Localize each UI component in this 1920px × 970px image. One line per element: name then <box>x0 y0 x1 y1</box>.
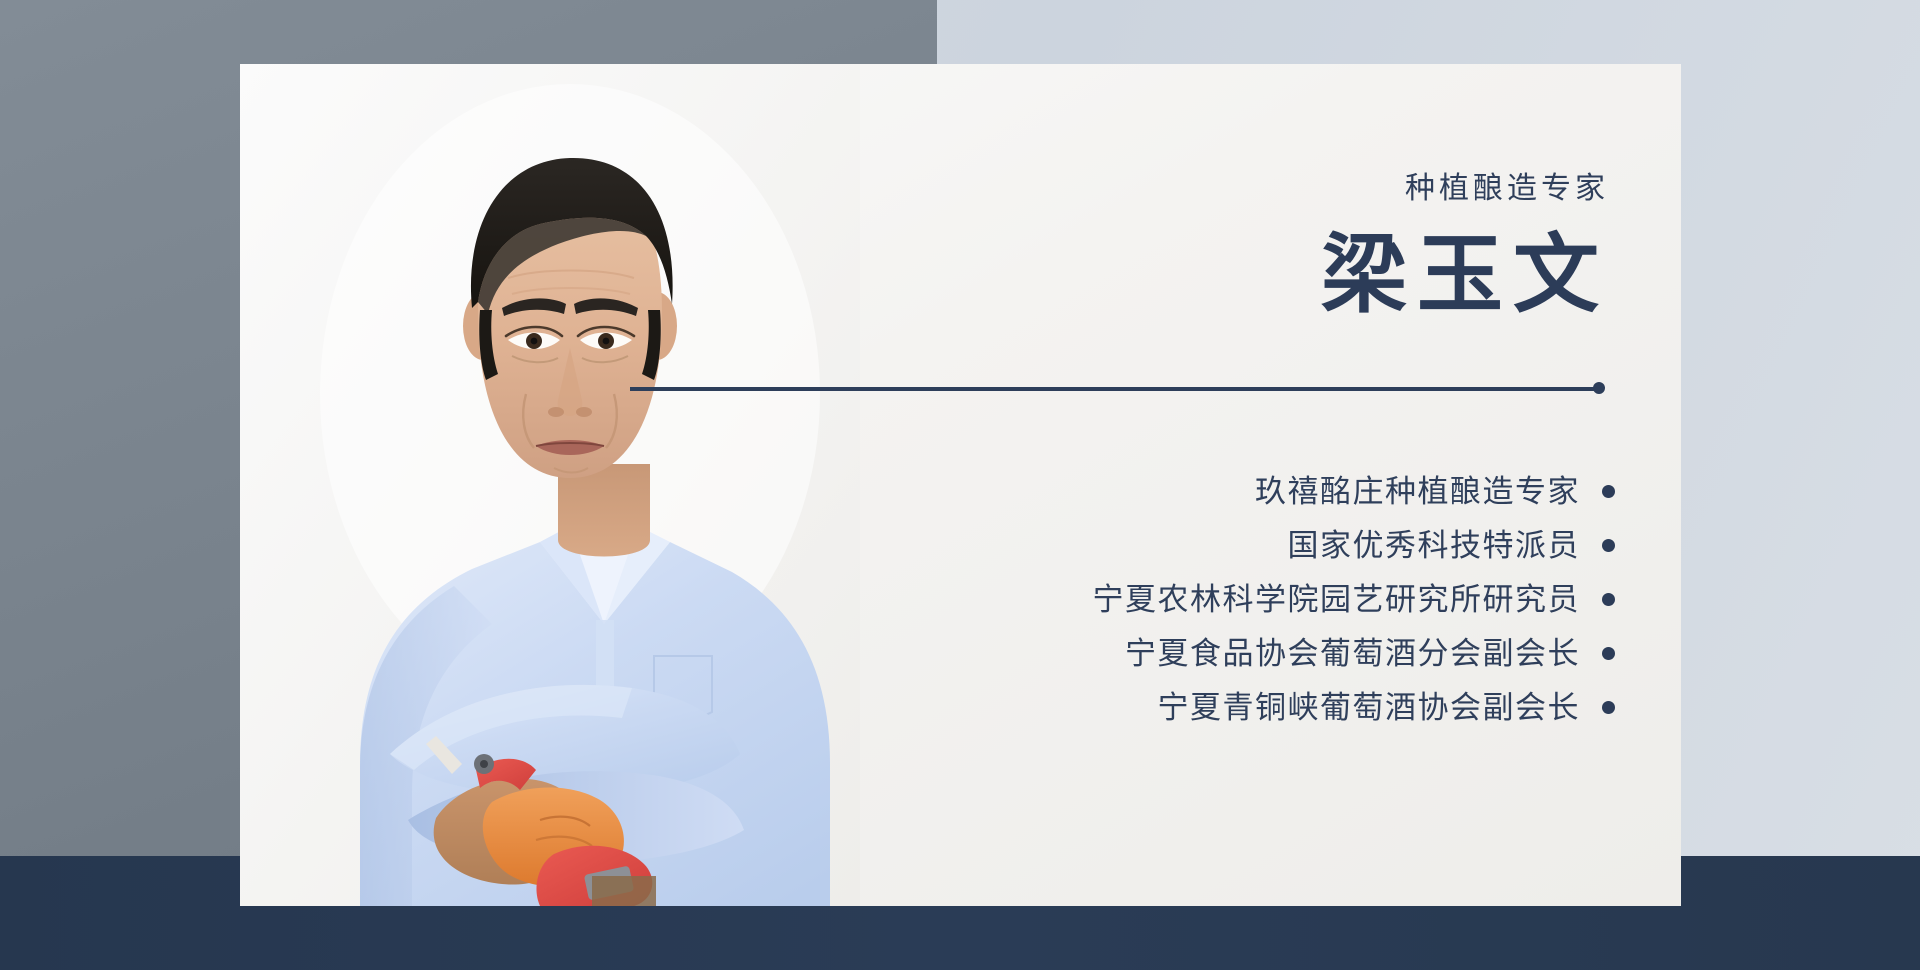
credential-label: 宁夏农林科学院园艺研究所研究员 <box>1093 584 1581 615</box>
expert-card: 种植酿造专家 梁玉文 玖禧酩庄种植酿造专家 国家优秀科技特派员 宁夏农林科学院园… <box>240 64 1681 906</box>
dot-bullet-icon <box>1602 701 1615 714</box>
dot-bullet-icon <box>1602 593 1615 606</box>
list-item: 宁夏青铜峡葡萄酒协会副会长 <box>695 680 1615 734</box>
credential-label: 宁夏青铜峡葡萄酒协会副会长 <box>1158 692 1581 723</box>
dot-bullet-icon <box>1602 539 1615 552</box>
expert-subtitle: 种植酿造专家 <box>849 174 1609 204</box>
list-item: 玖禧酩庄种植酿造专家 <box>695 464 1615 518</box>
expert-heading-block: 种植酿造专家 梁玉文 <box>849 174 1609 320</box>
credential-label: 国家优秀科技特派员 <box>1288 530 1581 561</box>
list-item: 宁夏食品协会葡萄酒分会副会长 <box>695 626 1615 680</box>
dot-bullet-icon <box>1602 485 1615 498</box>
divider-end-dot-icon <box>1593 382 1605 394</box>
dot-bullet-icon <box>1602 647 1615 660</box>
poster-canvas: 种植酿造专家 梁玉文 玖禧酩庄种植酿造专家 国家优秀科技特派员 宁夏农林科学院园… <box>0 0 1920 970</box>
heading-divider <box>630 382 1605 394</box>
list-item: 宁夏农林科学院园艺研究所研究员 <box>695 572 1615 626</box>
list-item: 国家优秀科技特派员 <box>695 518 1615 572</box>
expert-name: 梁玉文 <box>849 230 1609 320</box>
divider-rule <box>630 387 1595 391</box>
credential-list: 玖禧酩庄种植酿造专家 国家优秀科技特派员 宁夏农林科学院园艺研究所研究员 宁夏食… <box>695 464 1615 734</box>
credential-label: 宁夏食品协会葡萄酒分会副会长 <box>1125 638 1580 669</box>
credential-label: 玖禧酩庄种植酿造专家 <box>1255 476 1580 507</box>
